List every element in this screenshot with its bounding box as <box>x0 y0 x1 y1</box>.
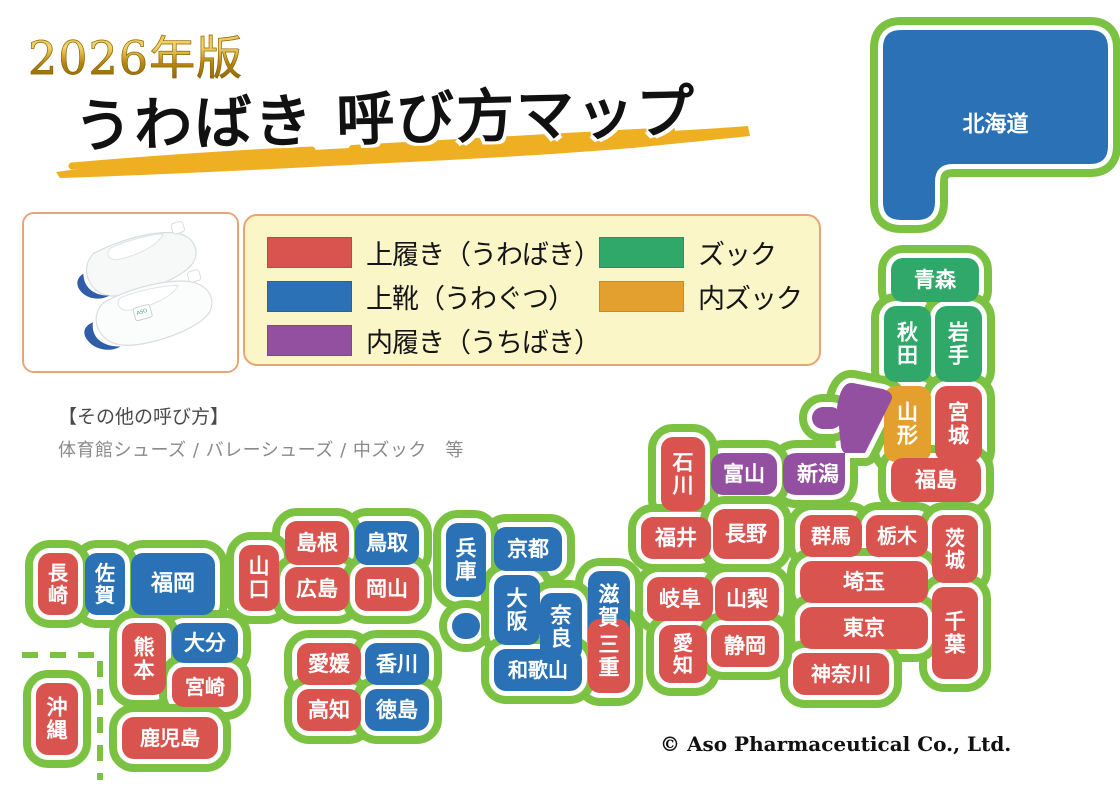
prefecture-label-岩手: 岩 <box>947 321 969 345</box>
prefecture-label-山口: 山 <box>249 555 270 579</box>
prefecture-label-福井: 福井 <box>654 526 697 550</box>
prefecture-label-岐阜: 岐阜 <box>659 587 701 611</box>
prefecture-label-沖縄: 沖 <box>47 696 68 720</box>
prefecture-label-北海道: 北海道 <box>962 112 1028 138</box>
prefecture-label-沖縄: 縄 <box>47 719 68 743</box>
prefecture-label-三重: 重 <box>599 656 620 680</box>
prefecture-label-山口: 口 <box>249 578 270 602</box>
prefecture-label-大阪: 阪 <box>507 610 529 634</box>
prefecture-label-島根: 島根 <box>296 531 338 555</box>
prefecture-label-高知: 高知 <box>308 698 350 722</box>
prefecture-label-富山: 富山 <box>723 462 765 486</box>
prefecture-label-鹿児島: 鹿児島 <box>140 726 200 750</box>
prefecture-label-京都: 京都 <box>507 537 549 561</box>
prefecture-label-東京: 東京 <box>843 616 885 640</box>
prefecture-label-岩手: 手 <box>948 344 969 368</box>
prefecture-label-石川: 川 <box>672 474 694 498</box>
prefecture-label-長崎: 長 <box>48 561 69 585</box>
prefecture-label-青森: 青森 <box>914 268 957 292</box>
prefecture-label-兵庫: 兵 <box>456 537 477 561</box>
prefecture-label-奈良: 良 <box>551 627 572 651</box>
prefecture-label-秋田: 田 <box>897 344 918 368</box>
prefecture-label-兵庫: 庫 <box>456 560 477 584</box>
prefecture-label-和歌山: 和歌山 <box>508 658 568 682</box>
prefecture-label-石川: 石 <box>672 451 694 475</box>
prefecture-label-栃木: 栃木 <box>877 524 918 548</box>
prefecture-label-佐賀: 賀 <box>94 583 115 607</box>
prefecture-label-山形: 形 <box>897 424 918 448</box>
prefecture-label-福島: 福島 <box>914 468 957 492</box>
prefecture-label-鳥取: 鳥取 <box>366 531 408 555</box>
prefecture-label-長野: 長野 <box>725 522 767 546</box>
prefecture-label-香川: 香川 <box>376 652 418 676</box>
prefecture-label-長崎: 崎 <box>48 583 68 607</box>
prefecture-label-宮城: 城 <box>948 424 969 448</box>
prefecture-label-大阪: 大 <box>507 587 528 611</box>
prefecture-label-新潟: 新潟 <box>797 462 839 486</box>
prefecture-label-茨城: 茨 <box>945 526 965 550</box>
prefecture-label-山形: 山 <box>897 401 918 425</box>
prefecture-label-秋田: 秋 <box>897 321 919 345</box>
prefecture-label-群馬: 群馬 <box>810 524 851 548</box>
prefecture-label-滋賀: 賀 <box>598 606 620 630</box>
prefecture-label-滋賀: 滋 <box>599 583 620 607</box>
prefecture-label-埼玉: 埼玉 <box>843 570 885 594</box>
prefecture-label-三重: 三 <box>599 633 620 657</box>
prefecture-label-宮崎: 宮崎 <box>185 675 225 699</box>
prefecture-label-千葉: 葉 <box>944 633 967 657</box>
prefecture-label-広島: 広島 <box>296 577 338 601</box>
prefecture-label-神奈川: 神奈川 <box>811 662 871 686</box>
prefecture-label-愛知: 愛 <box>673 631 693 655</box>
prefecture-label-佐賀: 佐 <box>94 561 115 585</box>
prefecture-label-福岡: 福岡 <box>150 572 195 597</box>
prefecture-label-山梨: 山梨 <box>726 587 768 611</box>
prefecture-label-熊本: 本 <box>134 659 155 683</box>
prefecture-label-愛知: 知 <box>673 653 693 677</box>
prefecture-佐渡 <box>812 407 842 429</box>
prefecture-label-熊本: 熊 <box>134 636 155 660</box>
prefecture-label-大分: 大分 <box>184 631 226 655</box>
infographic-root: 2026年版 うわばき 呼び方マップ ASO <box>0 0 1120 792</box>
prefecture-label-愛媛: 愛媛 <box>308 652 351 676</box>
prefecture-label-奈良: 奈 <box>550 604 573 628</box>
prefecture-label-徳島: 徳島 <box>375 698 418 722</box>
prefecture-label-千葉: 千 <box>945 610 966 634</box>
prefecture-label-岡山: 岡山 <box>366 577 408 601</box>
prefecture-淡路 <box>452 613 480 639</box>
prefecture-label-茨城: 城 <box>945 548 965 572</box>
prefecture-label-静岡: 静岡 <box>724 634 766 658</box>
japan-map: 北海道青森秋田岩手山形宮城福島群馬栃木茨城埼玉千葉東京神奈川新潟富山石川福井長野… <box>0 0 1120 792</box>
prefecture-label-宮城: 宮 <box>948 401 969 425</box>
